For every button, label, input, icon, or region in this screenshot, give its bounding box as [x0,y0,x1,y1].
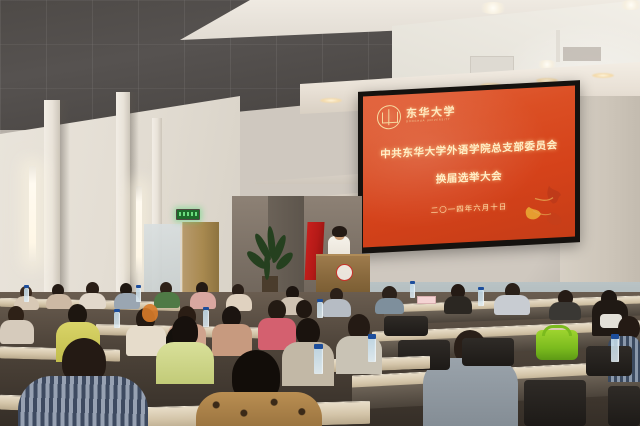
recessed-downlight [618,0,640,10]
name-placard [417,296,436,304]
seated-attendee [322,299,351,317]
seated-attendee [154,292,180,308]
water-bottle-cap [317,299,323,302]
seated-attendee [282,342,334,386]
seated-attendee [494,295,530,315]
water-bottle [203,310,209,327]
water-bottle [317,302,323,318]
water-bottle-cap [611,334,619,339]
water-bottle-cap [203,307,209,310]
green-backpack [536,330,578,360]
water-bottle [114,312,120,328]
seated-attendee [444,296,472,314]
slide-title-line-1: 中共东华大学外语学院总支部委员会 [380,137,558,161]
conference-chair [586,346,632,376]
water-bottle [24,288,29,302]
donghua-university-seal-icon [377,105,401,130]
water-bottle-cap [114,309,120,312]
water-bottle [478,290,484,306]
vertical-wall-sconce [29,166,36,262]
water-bottle-cap [478,287,484,290]
seated-attendee [46,294,72,309]
water-bottle-cap [410,281,415,284]
recessed-downlight [478,2,508,14]
emergency-exit-sign [176,209,200,220]
water-bottle [314,348,323,374]
water-bottle [368,338,376,362]
logo-english-name: DONGHUA UNIVERSITY [406,119,450,124]
water-bottle [611,338,619,362]
slide-title-line-2: 换届选举大会 [436,168,503,186]
seated-attendee [549,302,581,320]
maple-leaf-decoration-icon [499,179,569,237]
ceiling-pipe [556,30,560,62]
projected-slide: 东华大学 DONGHUA UNIVERSITY 中共东华大学外语学院总支部委员会… [363,85,575,247]
vertical-wall-sconce [136,186,142,274]
water-bottle [136,288,141,302]
slide-date: 二〇一四年六月十日 [431,201,508,216]
conference-chair [608,386,640,426]
water-bottle-cap [24,285,29,288]
conference-chair [462,338,514,366]
water-bottle-cap [314,344,323,349]
seated-attendee [268,300,286,320]
water-bottle-cap [368,334,376,339]
seated-attendee [142,304,158,322]
seated-attendee [156,342,214,384]
lecture-hall-photo: 东华大学 DONGHUA UNIVERSITY 中共东华大学外语学院总支部委员会… [0,0,640,426]
seated-attendee [0,320,34,344]
air-vent [563,47,601,61]
university-crest-icon [336,264,353,281]
potted-palm [264,252,270,280]
seated-attendee [375,298,404,314]
slide-logo: 东华大学 DONGHUA UNIVERSITY [363,102,456,131]
water-bottle [410,284,415,298]
conference-chair [384,316,428,336]
water-bottle-cap [136,285,141,288]
seated-attendee [296,300,312,318]
seated-attendee [18,376,148,426]
recessed-downlight [320,98,342,103]
speaker-hair [332,226,347,237]
recessed-downlight [592,73,614,78]
projection-screen: 东华大学 DONGHUA UNIVERSITY 中共东华大学外语学院总支部委员会… [358,80,580,254]
conference-chair [524,380,586,426]
plant-pot [262,276,278,292]
seated-attendee [196,392,322,426]
